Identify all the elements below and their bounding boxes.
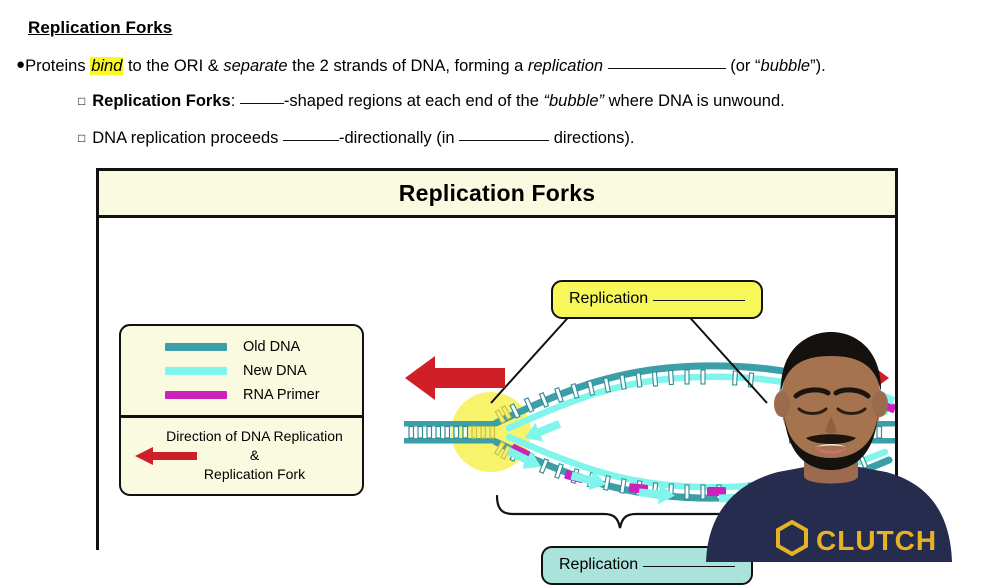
legend-item: New DNA	[121, 359, 362, 383]
bullet-line-3: □DNA replication proceeds -directionally…	[78, 129, 634, 148]
callout-top-text: Replication	[569, 290, 648, 307]
notes-area: Replication Forks ●Proteins bind to the …	[0, 0, 1000, 162]
bullet1-seg1: Proteins	[25, 57, 90, 75]
bullet1-seg2: to the ORI &	[123, 57, 223, 75]
bullet2-blank	[240, 103, 284, 104]
bullet1-seg4: (or “	[726, 57, 761, 75]
legend-direction-section: Direction of DNA Replication & Replicati…	[121, 418, 362, 494]
bullet-glyph: □	[78, 131, 85, 145]
bullet-line-2: □Replication Forks: -shaped regions at e…	[78, 92, 785, 111]
legend-box: Old DNA New DNA RNA Primer Direction of …	[119, 324, 364, 496]
bullet2-seg2: -shaped regions at each end of the	[284, 92, 544, 110]
bullet3-seg3: directions).	[549, 129, 634, 147]
legend-item: RNA Primer	[121, 383, 362, 407]
bullet-glyph: ●	[16, 56, 25, 73]
bullet1-italic-separate: separate	[223, 57, 287, 75]
bullet2-italic-bubble: “bubble”	[543, 92, 604, 110]
presenter-video-overlay: CLUTCH	[700, 330, 1000, 562]
rna-primer-swatch	[165, 391, 227, 399]
bullet1-italic-replication: replication	[528, 57, 603, 75]
shirt-logo-text: CLUTCH	[816, 525, 937, 556]
bullet1-italic-bubble: bubble	[761, 57, 811, 75]
bullet1-blank	[608, 68, 726, 69]
callout-bottom-blank	[643, 566, 735, 567]
callout-replication-bubble: Replication	[551, 280, 763, 319]
bullet2-bold-term: Replication Forks	[92, 92, 230, 110]
presenter-figure: CLUTCH	[700, 330, 1000, 562]
bullet-line-1: ●Proteins bind to the ORI & separate the…	[16, 56, 826, 76]
page-title: Replication Forks	[28, 18, 172, 38]
diagram-title: Replication Forks	[99, 171, 895, 218]
legend-items: Old DNA New DNA RNA Primer	[121, 326, 362, 415]
red-arrow-left	[405, 356, 505, 400]
legend-label: Old DNA	[243, 339, 300, 355]
legend-red-arrow-icon	[133, 445, 199, 467]
legend-direction-line-1: Direction of DNA Replication	[121, 427, 362, 446]
bullet1-seg5: ”).	[810, 57, 826, 75]
bullet3-blank-2	[459, 140, 549, 141]
bullet3-blank-1	[283, 140, 339, 141]
legend-direction-line-3: Replication Fork	[121, 465, 362, 484]
callout-bottom-text: Replication	[559, 556, 638, 573]
legend-label: New DNA	[243, 363, 307, 379]
bullet2-seg3: where DNA is unwound.	[604, 92, 785, 110]
legend-label: RNA Primer	[243, 387, 320, 403]
bullet3-seg1: DNA replication proceeds	[92, 129, 283, 147]
callout-top-blank	[653, 300, 745, 301]
bullet-glyph: □	[78, 94, 85, 108]
old-dna-swatch	[165, 343, 227, 351]
bullet1-highlight-word: bind	[90, 57, 123, 75]
legend-item: Old DNA	[121, 335, 362, 359]
new-dna-swatch	[165, 367, 227, 375]
bullet3-seg2: -directionally (in	[339, 129, 459, 147]
bullet2-seg1: :	[231, 92, 240, 110]
bullet1-seg3: the 2 strands of DNA, forming a	[288, 57, 528, 75]
